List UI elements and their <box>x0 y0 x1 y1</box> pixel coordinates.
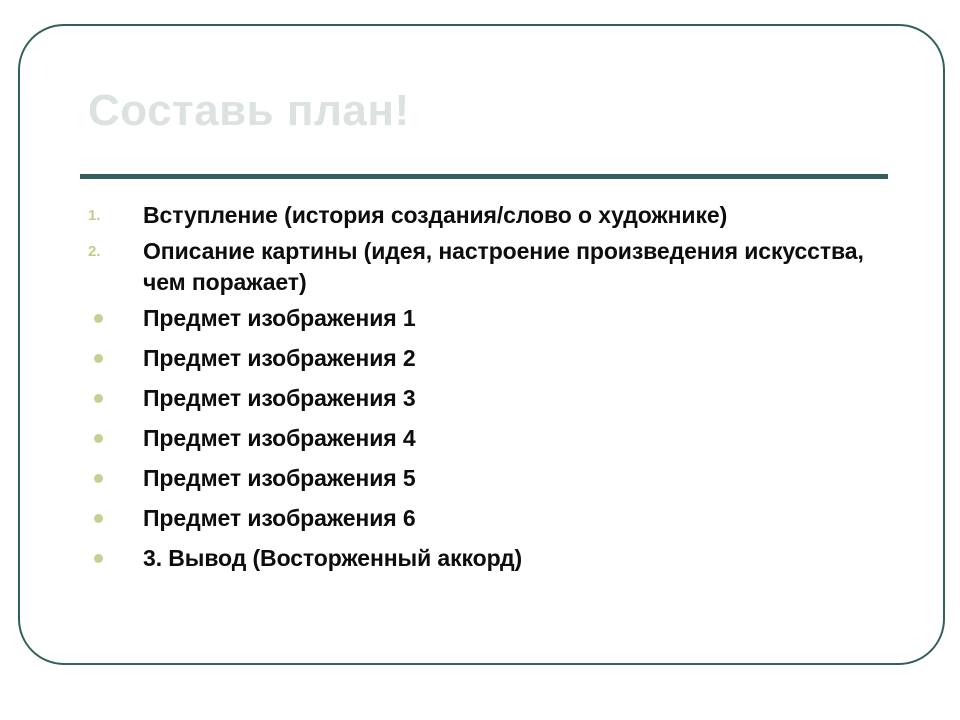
list-item: Предмет изображения 1 <box>80 303 900 334</box>
list-item-text: Описание картины (идея, настроение произ… <box>143 236 900 298</box>
bullet-dot-icon <box>94 394 103 403</box>
list-item-text: Предмет изображения 1 <box>143 303 900 334</box>
bullet-dot-icon <box>94 314 103 323</box>
list-item: Предмет изображения 3 <box>80 383 900 414</box>
list-item-text: Предмет изображения 3 <box>143 383 900 414</box>
list-item-text: Предмет изображения 6 <box>143 503 900 534</box>
list-item: Предмет изображения 4 <box>80 423 900 454</box>
list-item: Предмет изображения 6 <box>80 503 900 534</box>
content-list: 1.Вступление (история создания/слово о х… <box>80 200 900 583</box>
list-item-text: 3. Вывод (Восторженный аккорд) <box>143 543 900 574</box>
bullet-dot-icon <box>94 474 103 483</box>
list-item: 2.Описание картины (идея, настроение про… <box>80 236 900 298</box>
list-marker-number: 1. <box>88 206 118 226</box>
list-item-text: Предмет изображения 2 <box>143 343 900 374</box>
slide-canvas: Составь план! 1.Вступление (история созд… <box>0 0 960 720</box>
list-item: Предмет изображения 2 <box>80 343 900 374</box>
title-divider-rule <box>80 174 888 179</box>
bullet-dot-icon <box>94 514 103 523</box>
list-marker-number: 2. <box>88 242 118 262</box>
list-item-text: Предмет изображения 5 <box>143 463 900 494</box>
bullet-dot-icon <box>94 554 103 563</box>
list-item-text: Вступление (история создания/слово о худ… <box>143 200 900 231</box>
list-item: 1.Вступление (история создания/слово о х… <box>80 200 900 231</box>
list-item: 3. Вывод (Восторженный аккорд) <box>80 543 900 574</box>
page-title: Составь план! <box>88 84 898 138</box>
bullet-dot-icon <box>94 434 103 443</box>
title-placeholder: Составь план! <box>88 84 898 138</box>
bullet-dot-icon <box>94 354 103 363</box>
list-item: Предмет изображения 5 <box>80 463 900 494</box>
list-item-text: Предмет изображения 4 <box>143 423 900 454</box>
